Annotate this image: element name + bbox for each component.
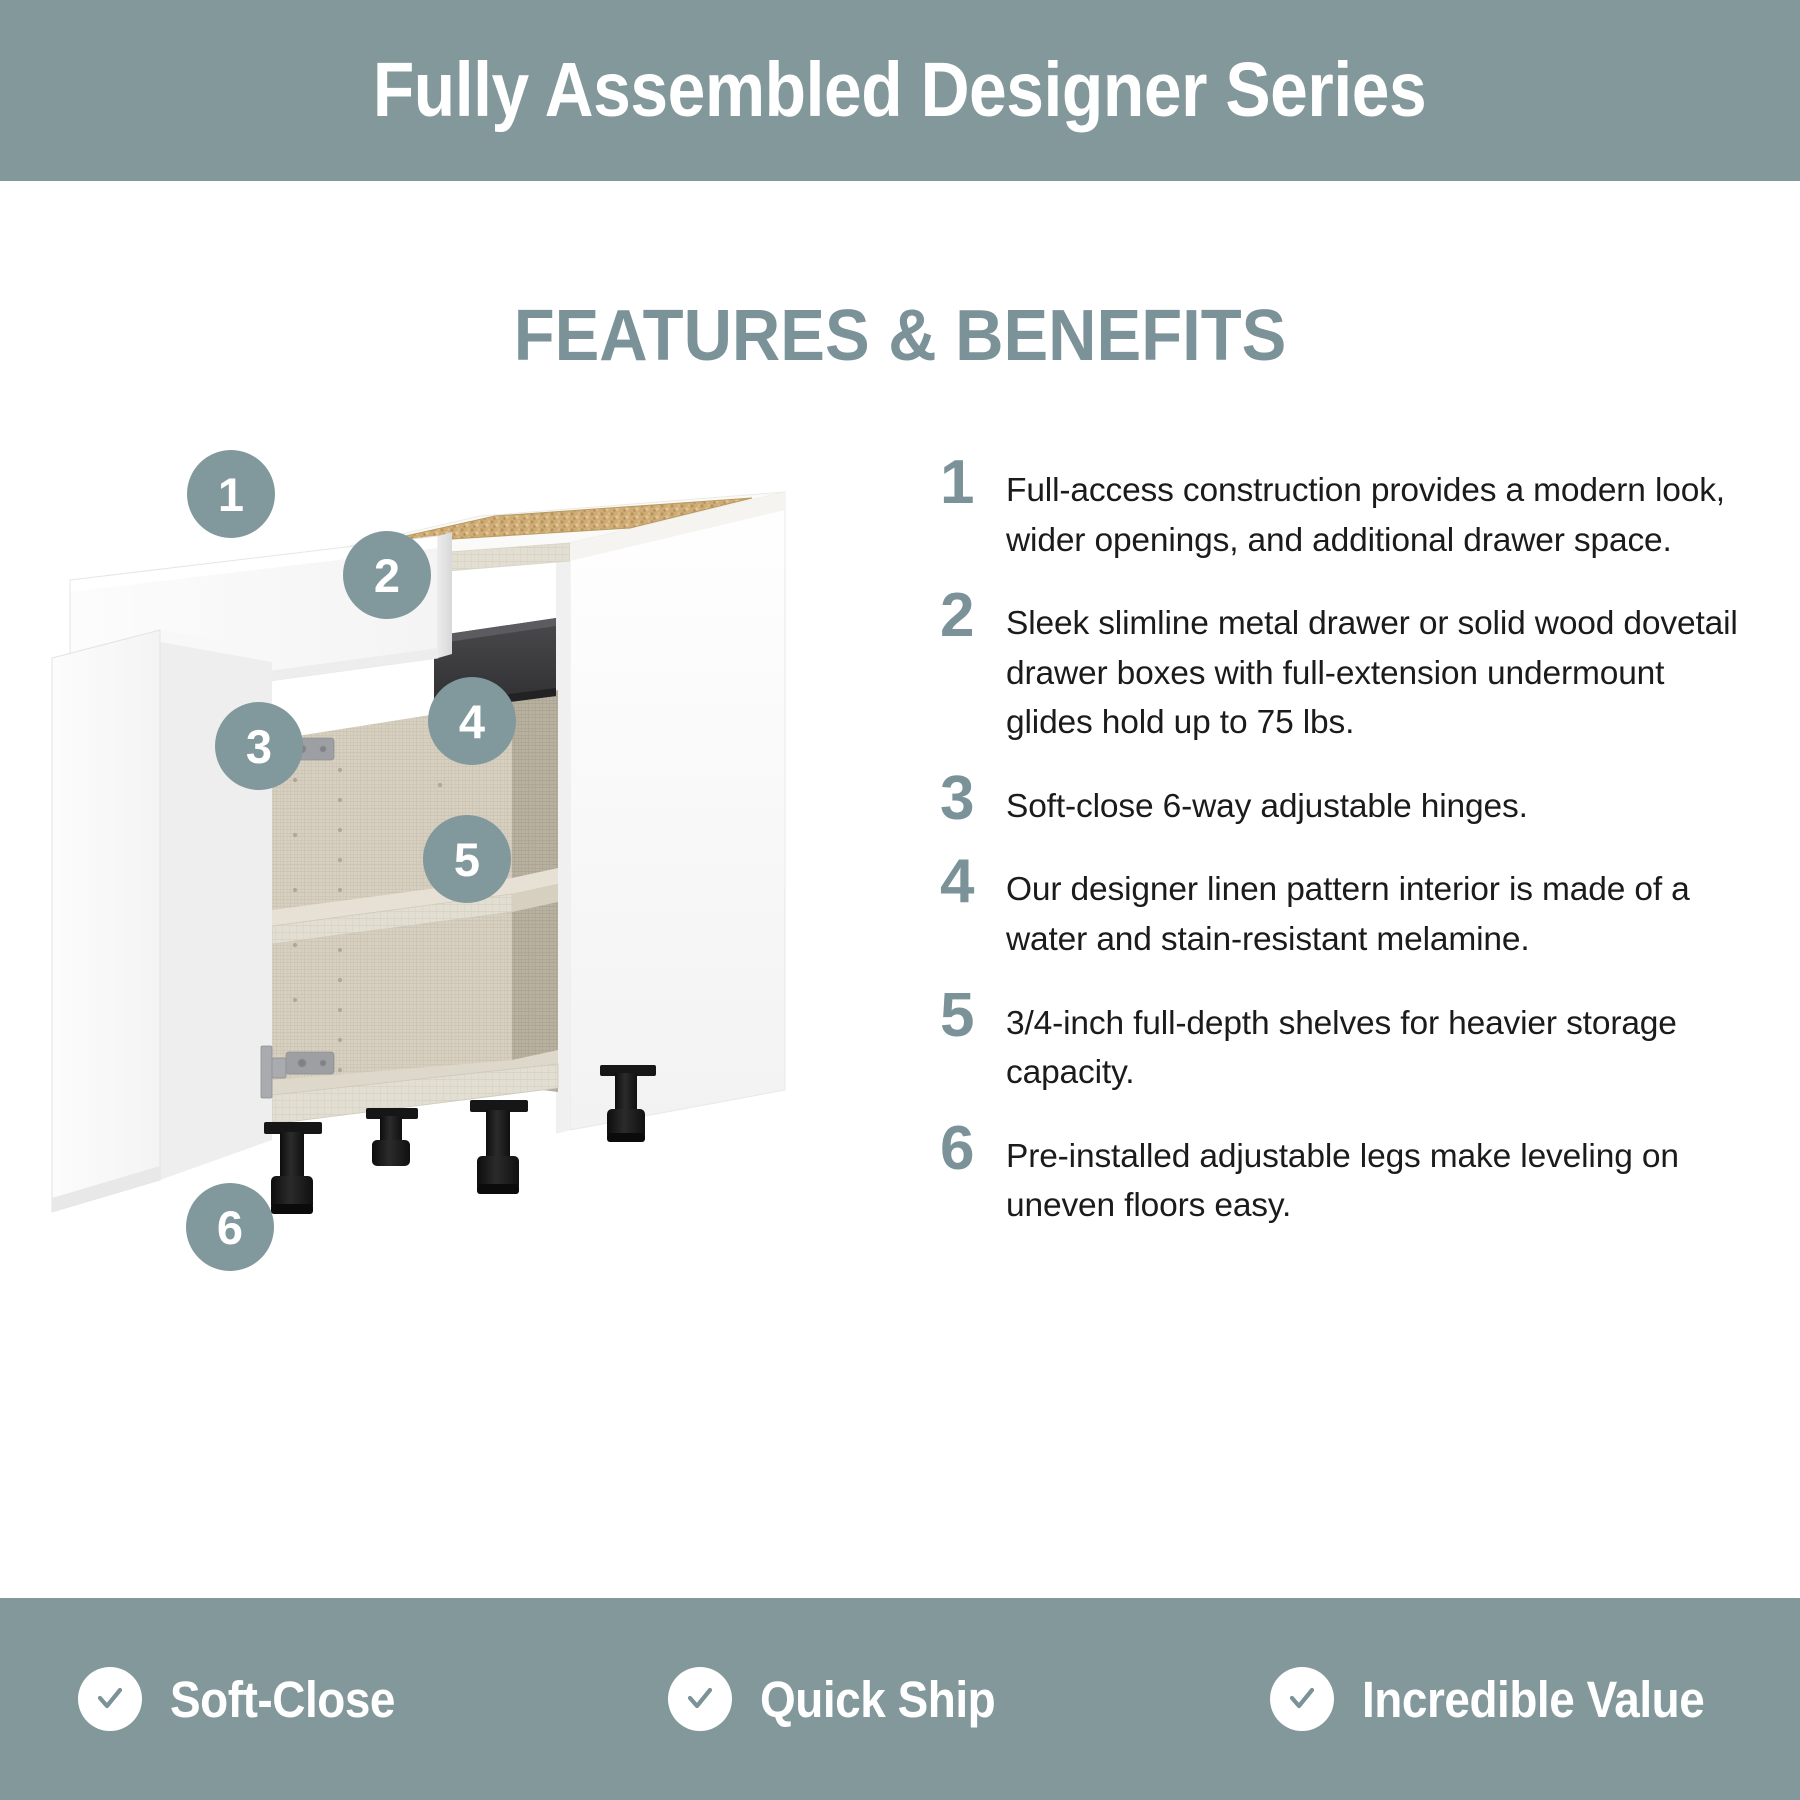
header-bar: Fully Assembled Designer Series — [0, 0, 1800, 181]
feature-text-2: Sleek slimline metal drawer or solid woo… — [1006, 585, 1740, 748]
feature-number-3: 3 — [940, 768, 1006, 827]
footer-label-quick-ship: Quick Ship — [760, 1674, 995, 1725]
feature-item-1: 1 Full-access construction provides a mo… — [940, 452, 1740, 565]
footer-item-incredible-value: Incredible Value — [1198, 1667, 1800, 1731]
footer-label-soft-close: Soft-Close — [170, 1674, 395, 1725]
callout-badge-3: 3 — [215, 702, 303, 790]
feature-item-2: 2 Sleek slimline metal drawer or solid w… — [940, 585, 1740, 748]
footer-bar: Soft-Close Quick Ship Incredible Value — [0, 1598, 1800, 1800]
feature-text-1: Full-access construction provides a mode… — [1006, 452, 1740, 565]
footer-item-soft-close: Soft-Close — [0, 1667, 608, 1731]
callout-badge-4: 4 — [428, 677, 516, 765]
feature-text-3: Soft-close 6-way adjustable hinges. — [1006, 768, 1740, 832]
feature-item-6: 6 Pre-installed adjustable legs make lev… — [940, 1118, 1740, 1231]
feature-item-4: 4 Our designer linen pattern interior is… — [940, 851, 1740, 964]
feature-number-1: 1 — [940, 452, 1006, 511]
feature-number-4: 4 — [940, 851, 1006, 910]
footer-label-incredible-value: Incredible Value — [1362, 1674, 1704, 1725]
check-icon — [78, 1667, 142, 1731]
callout-badge-1: 1 — [187, 450, 275, 538]
feature-text-5: 3/4-inch full-depth shelves for heavier … — [1006, 985, 1740, 1098]
infographic-page: Fully Assembled Designer Series FEATURES… — [0, 0, 1800, 1800]
page-title: Fully Assembled Designer Series — [373, 52, 1426, 129]
check-icon — [1270, 1667, 1334, 1731]
footer-item-quick-ship: Quick Ship — [608, 1667, 1198, 1731]
feature-number-5: 5 — [940, 985, 1006, 1044]
feature-text-6: Pre-installed adjustable legs make level… — [1006, 1118, 1740, 1231]
feature-text-4: Our designer linen pattern interior is m… — [1006, 851, 1740, 964]
section-heading: FEATURES & BENEFITS — [63, 300, 1737, 372]
callout-badge-2: 2 — [343, 531, 431, 619]
feature-item-3: 3 Soft-close 6-way adjustable hinges. — [940, 768, 1740, 832]
callout-badge-5: 5 — [423, 815, 511, 903]
feature-number-2: 2 — [940, 585, 1006, 644]
feature-item-5: 5 3/4-inch full-depth shelves for heavie… — [940, 985, 1740, 1098]
feature-list: 1 Full-access construction provides a mo… — [940, 452, 1740, 1251]
callout-badge-6: 6 — [186, 1183, 274, 1271]
feature-number-6: 6 — [940, 1118, 1006, 1177]
check-icon — [668, 1667, 732, 1731]
